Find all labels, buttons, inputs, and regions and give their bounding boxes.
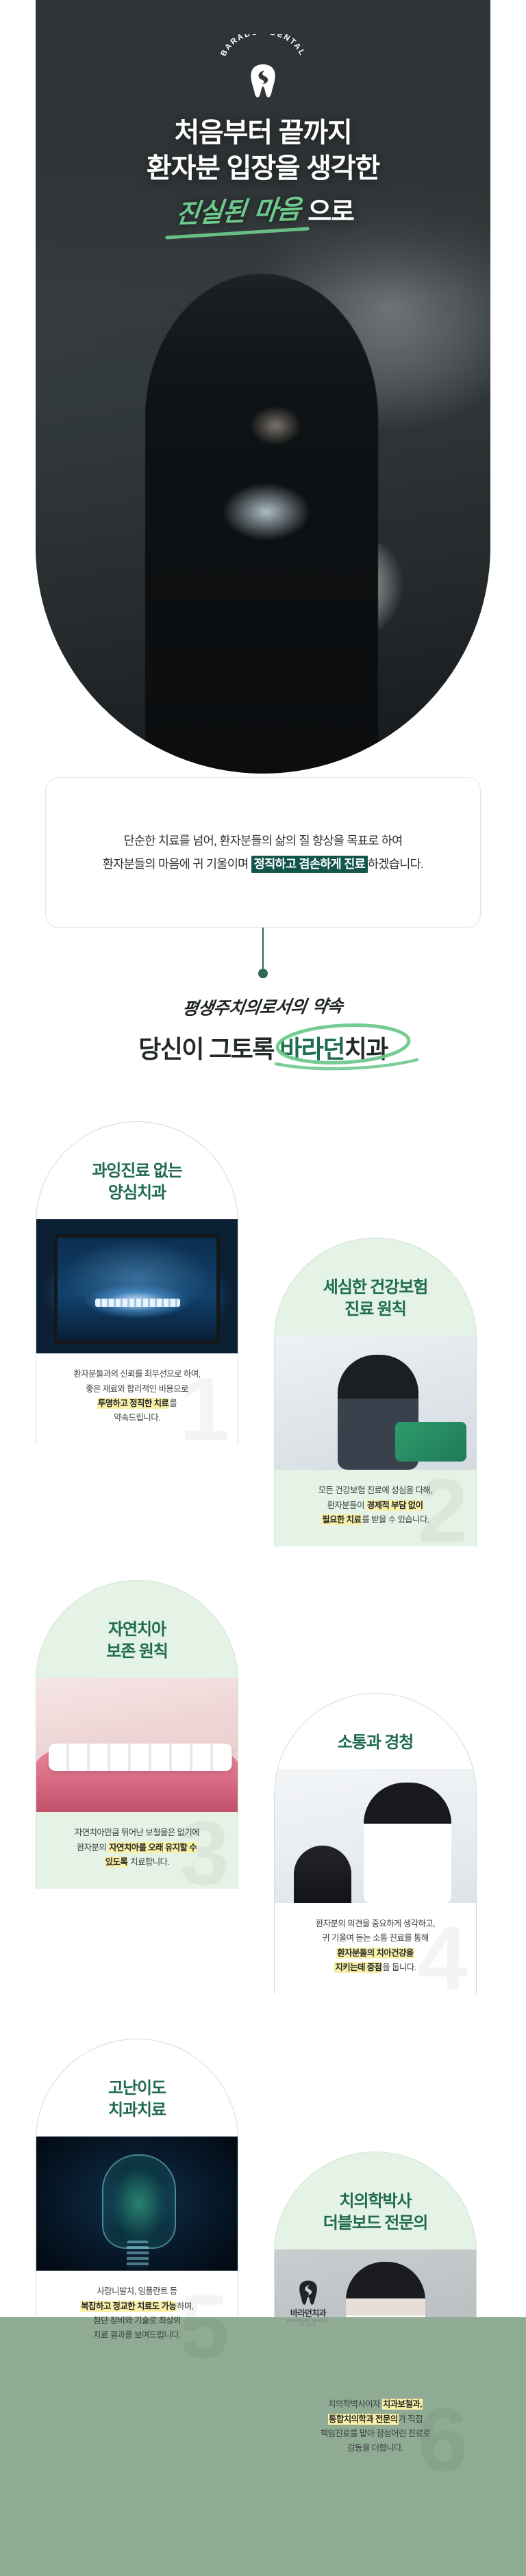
- section-script-text: 평생주치의로서의 약속: [181, 993, 345, 1020]
- feature-card-5[interactable]: 고난이도 치과치료 5 사랑니발치, 임플란트 등 복잡하고 정교한 치료도 가…: [36, 2039, 238, 2362]
- svg-text:BARADUN DENTAL: BARADUN DENTAL: [219, 34, 306, 58]
- card-3-desc-l1: 자연치아만큼 뛰어난 보철물은 없기에: [75, 1828, 199, 1837]
- quote-highlight: 정직하고 겸손하게 진료: [251, 856, 368, 873]
- card-2-desc-l2-pre: 환자분들이: [327, 1501, 366, 1510]
- card-3-title: 자연치아 보존 원칙: [49, 1619, 225, 1663]
- card-2-title: 세심한 건강보험 진료 원칙: [287, 1277, 464, 1321]
- card-1-body: 1 환자분들과의 신뢰를 최우선으로 하여, 좋은 재료와 합리적인 비용으로 …: [36, 1353, 238, 1444]
- card-5-desc-l2-post: 하며,: [177, 2301, 194, 2311]
- card-2-body: 2 모든 건강보험 진료에 성심을 다해, 환자분들이 경제적 부담 없이 필요…: [275, 1470, 476, 1546]
- card-3-body: 3 자연치아만큼 뛰어난 보철물은 없기에 환자분의 자연치아를 오래 유지할 …: [36, 1812, 238, 1889]
- connector-line: [262, 928, 264, 971]
- section-heading: 평생주치의로서의 약속 당신이 그토록 바라던치과: [0, 994, 526, 1065]
- card-1-desc-l1: 환자분들과의 신뢰를 최우선으로 하여,: [73, 1369, 200, 1379]
- brand-arc-label: BARADUN DENTAL: [219, 34, 306, 58]
- quote-line-2: 환자분들의 마음에 귀 기울이며 정직하고 겸손하게 진료하겠습니다.: [103, 852, 423, 876]
- card-6-desc-l1-pre: 치의학박사이자: [328, 2399, 382, 2409]
- card-1-desc-highlight: 투명하고 정직한 치료: [97, 1398, 169, 1409]
- card-1-header: 과잉진료 없는 양심치과: [36, 1122, 238, 1219]
- feature-card-6[interactable]: 치의학박사 더블보드 전문의 바라던치과 BARADUN DENTAL CLIN…: [274, 2152, 477, 2475]
- card-4-desc-highlight: 환자분들의 치아건강을: [336, 1948, 414, 1959]
- hero-script-highlight: 진실된 마음: [170, 188, 307, 231]
- quote-line-1: 단순한 치료를 넘어, 환자분들의 삶의 질 향상을 목표로 하여: [123, 829, 402, 852]
- card-6-body: 6 치의학박사이자 치과보철과, 통합치의학과 전문의가 직접 책임진료를 맡아…: [275, 2384, 476, 2475]
- brand-logo: BARADUN DENTAL: [36, 34, 490, 99]
- card-1-desc-l3-post: 를: [169, 1399, 177, 1408]
- card-2-desc-l1: 모든 건강보험 진료에 성심을 다해,: [318, 1485, 432, 1495]
- quote-line-2-post: 하겠습니다.: [368, 857, 423, 871]
- section-title-green: 바라던: [279, 1035, 345, 1063]
- card-2-header: 세심한 건강보험 진료 원칙: [275, 1238, 476, 1336]
- hero-line-2: 환자분 입장을 생각한: [36, 151, 490, 186]
- card-1-description: 환자분들과의 신뢰를 최우선으로 하여, 좋은 재료와 합리적인 비용으로 투명…: [36, 1353, 238, 1444]
- card-3-desc-highlight-2: 있도록: [105, 1857, 129, 1867]
- hero-suffix: 으로: [308, 190, 354, 228]
- clinic-logo-english: BARADUN DENTAL CLINIC: [283, 2319, 334, 2328]
- brand-arc-text: BARADUN DENTAL: [218, 34, 308, 67]
- feature-card-1[interactable]: 과잉진료 없는 양심치과 1 환자분들과의 신뢰를 최우선으로 하여, 좋은 재…: [36, 1121, 238, 1445]
- doctor-consulting-patient-photo: [275, 1769, 476, 1903]
- card-6-desc-highlight: 치과보철과,: [382, 2399, 423, 2410]
- tech-tooth-lightbulb-photo: [36, 2137, 238, 2271]
- section-title-post: 치과: [345, 1035, 388, 1063]
- card-2-description: 모든 건강보험 진료에 성심을 다해, 환자분들이 경제적 부담 없이 필요한 …: [275, 1470, 476, 1546]
- card-5-body: 5 사랑니발치, 임플란트 등 복잡하고 정교한 치료도 가능하며, 첨단 장비…: [36, 2271, 238, 2362]
- card-5-description: 사랑니발치, 임플란트 등 복잡하고 정교한 치료도 가능하며, 첨단 장비와 …: [36, 2271, 238, 2362]
- tooth-icon: [248, 63, 278, 99]
- card-6-desc-l4: 감동을 더합니다.: [347, 2443, 403, 2453]
- card-2-desc-highlight-2: 필요한 치료: [321, 1514, 362, 1525]
- card-5-desc-highlight: 복잡하고 정교한 치료도 가능: [80, 2301, 177, 2312]
- section-title-pre: 당신이 그토록: [138, 1035, 279, 1063]
- card-4-title: 소통과 경청: [287, 1732, 464, 1754]
- card-5-desc-l4: 치료 결과를 보여드립니다.: [93, 2330, 181, 2340]
- card-5-desc-l3: 첨단 장비와 기술로 최상의: [93, 2316, 181, 2325]
- dental-xray-photo: [36, 1219, 238, 1353]
- card-5-header: 고난이도 치과치료: [36, 2039, 238, 2137]
- section-title: 당신이 그토록 바라던치과: [0, 1030, 526, 1065]
- card-2-desc-l3-post: 를 받을 수 있습니다.: [362, 1515, 429, 1525]
- feature-card-2[interactable]: 세심한 건강보험 진료 원칙 2 모든 건강보험 진료에 성심을 다해, 환자분…: [274, 1238, 477, 1546]
- feature-card-3[interactable]: 자연치아 보존 원칙 3 자연치아만큼 뛰어난 보철물은 없기에 환자분의 자연…: [36, 1580, 238, 1889]
- card-5-title: 고난이도 치과치료: [49, 2078, 225, 2121]
- card-6-desc-l3: 책임진료를 맡아 정성어린 진료로: [321, 2429, 431, 2438]
- card-2-desc-highlight: 경제적 부담 없이: [366, 1500, 424, 1511]
- clinic-wall-logo: 바라던치과 BARADUN DENTAL CLINIC: [283, 2280, 334, 2328]
- feature-card-4[interactable]: 소통과 경청 4 환자분의 의견을 중요하게 생각하고, 귀 기울여 듣는 소통…: [274, 1693, 477, 1994]
- card-4-body: 4 환자분의 의견을 중요하게 생각하고, 귀 기울여 듣는 소통 진료를 통해…: [275, 1903, 476, 1994]
- card-3-header: 자연치아 보존 원칙: [36, 1581, 238, 1678]
- card-3-desc-highlight: 자연치아를 오래 유지할 수: [108, 1842, 197, 1853]
- mission-quote-card: 단순한 치료를 넘어, 환자분들의 삶의 질 향상을 목표로 하여 환자분들의 …: [45, 777, 481, 928]
- card-6-desc-l2-post: 가 직접: [399, 2414, 423, 2424]
- card-6-title: 치의학박사 더블보드 전문의: [287, 2191, 464, 2234]
- hero-section: BARADUN DENTAL 처음부터 끝까지 환자분 입장을 생각한 진실된 …: [36, 0, 490, 774]
- card-3-description: 자연치아만큼 뛰어난 보철물은 없기에 환자분의 자연치아를 오래 유지할 수 …: [36, 1812, 238, 1889]
- quote-line-2-pre: 환자분들의 마음에 귀 기울이며: [103, 857, 251, 871]
- card-4-desc-highlight-2: 지키는데 중점: [334, 1962, 382, 1973]
- card-4-desc-l3-post: 을 둡니다.: [382, 1963, 416, 1972]
- hero-heading: 처음부터 끝까지 환자분 입장을 생각한 진실된 마음 으로: [36, 115, 490, 228]
- hero-line-3: 진실된 마음 으로: [36, 190, 490, 228]
- card-1-title: 과잉진료 없는 양심치과: [49, 1160, 225, 1204]
- card-3-desc-l3-post: 치료합니다.: [128, 1857, 169, 1867]
- card-6-desc-highlight-2: 통합치의학과 전문의: [328, 2414, 399, 2425]
- card-1-desc-l4: 약속드립니다.: [114, 1413, 160, 1423]
- card-3-desc-l2-pre: 환자분의: [77, 1843, 108, 1852]
- dentist-treating-patient-photo: [275, 1336, 476, 1470]
- hero-line-1: 처음부터 끝까지: [36, 115, 490, 151]
- card-1-desc-l2: 좋은 재료와 합리적인 비용으로: [86, 1384, 188, 1394]
- card-4-header: 소통과 경청: [275, 1694, 476, 1769]
- card-4-description: 환자분의 의견을 중요하게 생각하고, 귀 기울여 듣는 소통 진료를 통해 환…: [275, 1903, 476, 1994]
- clinic-logo-korean: 바라던치과: [283, 2307, 334, 2319]
- card-4-desc-l1: 환자분의 의견을 중요하게 생각하고,: [316, 1919, 435, 1928]
- connector-dot: [258, 969, 268, 978]
- landing-page: BARADUN DENTAL 처음부터 끝까지 환자분 입장을 생각한 진실된 …: [0, 0, 526, 2576]
- teeth-model-miniature-workers-photo: [36, 1678, 238, 1812]
- card-6-header: 치의학박사 더블보드 전문의: [275, 2152, 476, 2249]
- tooth-icon: [297, 2280, 319, 2306]
- card-4-desc-l2: 귀 기울여 듣는 소통 진료를 통해: [322, 1933, 429, 1943]
- card-6-description: 치의학박사이자 치과보철과, 통합치의학과 전문의가 직접 책임진료를 맡아 정…: [275, 2384, 476, 2475]
- card-5-desc-l1: 사랑니발치, 임플란트 등: [97, 2286, 177, 2296]
